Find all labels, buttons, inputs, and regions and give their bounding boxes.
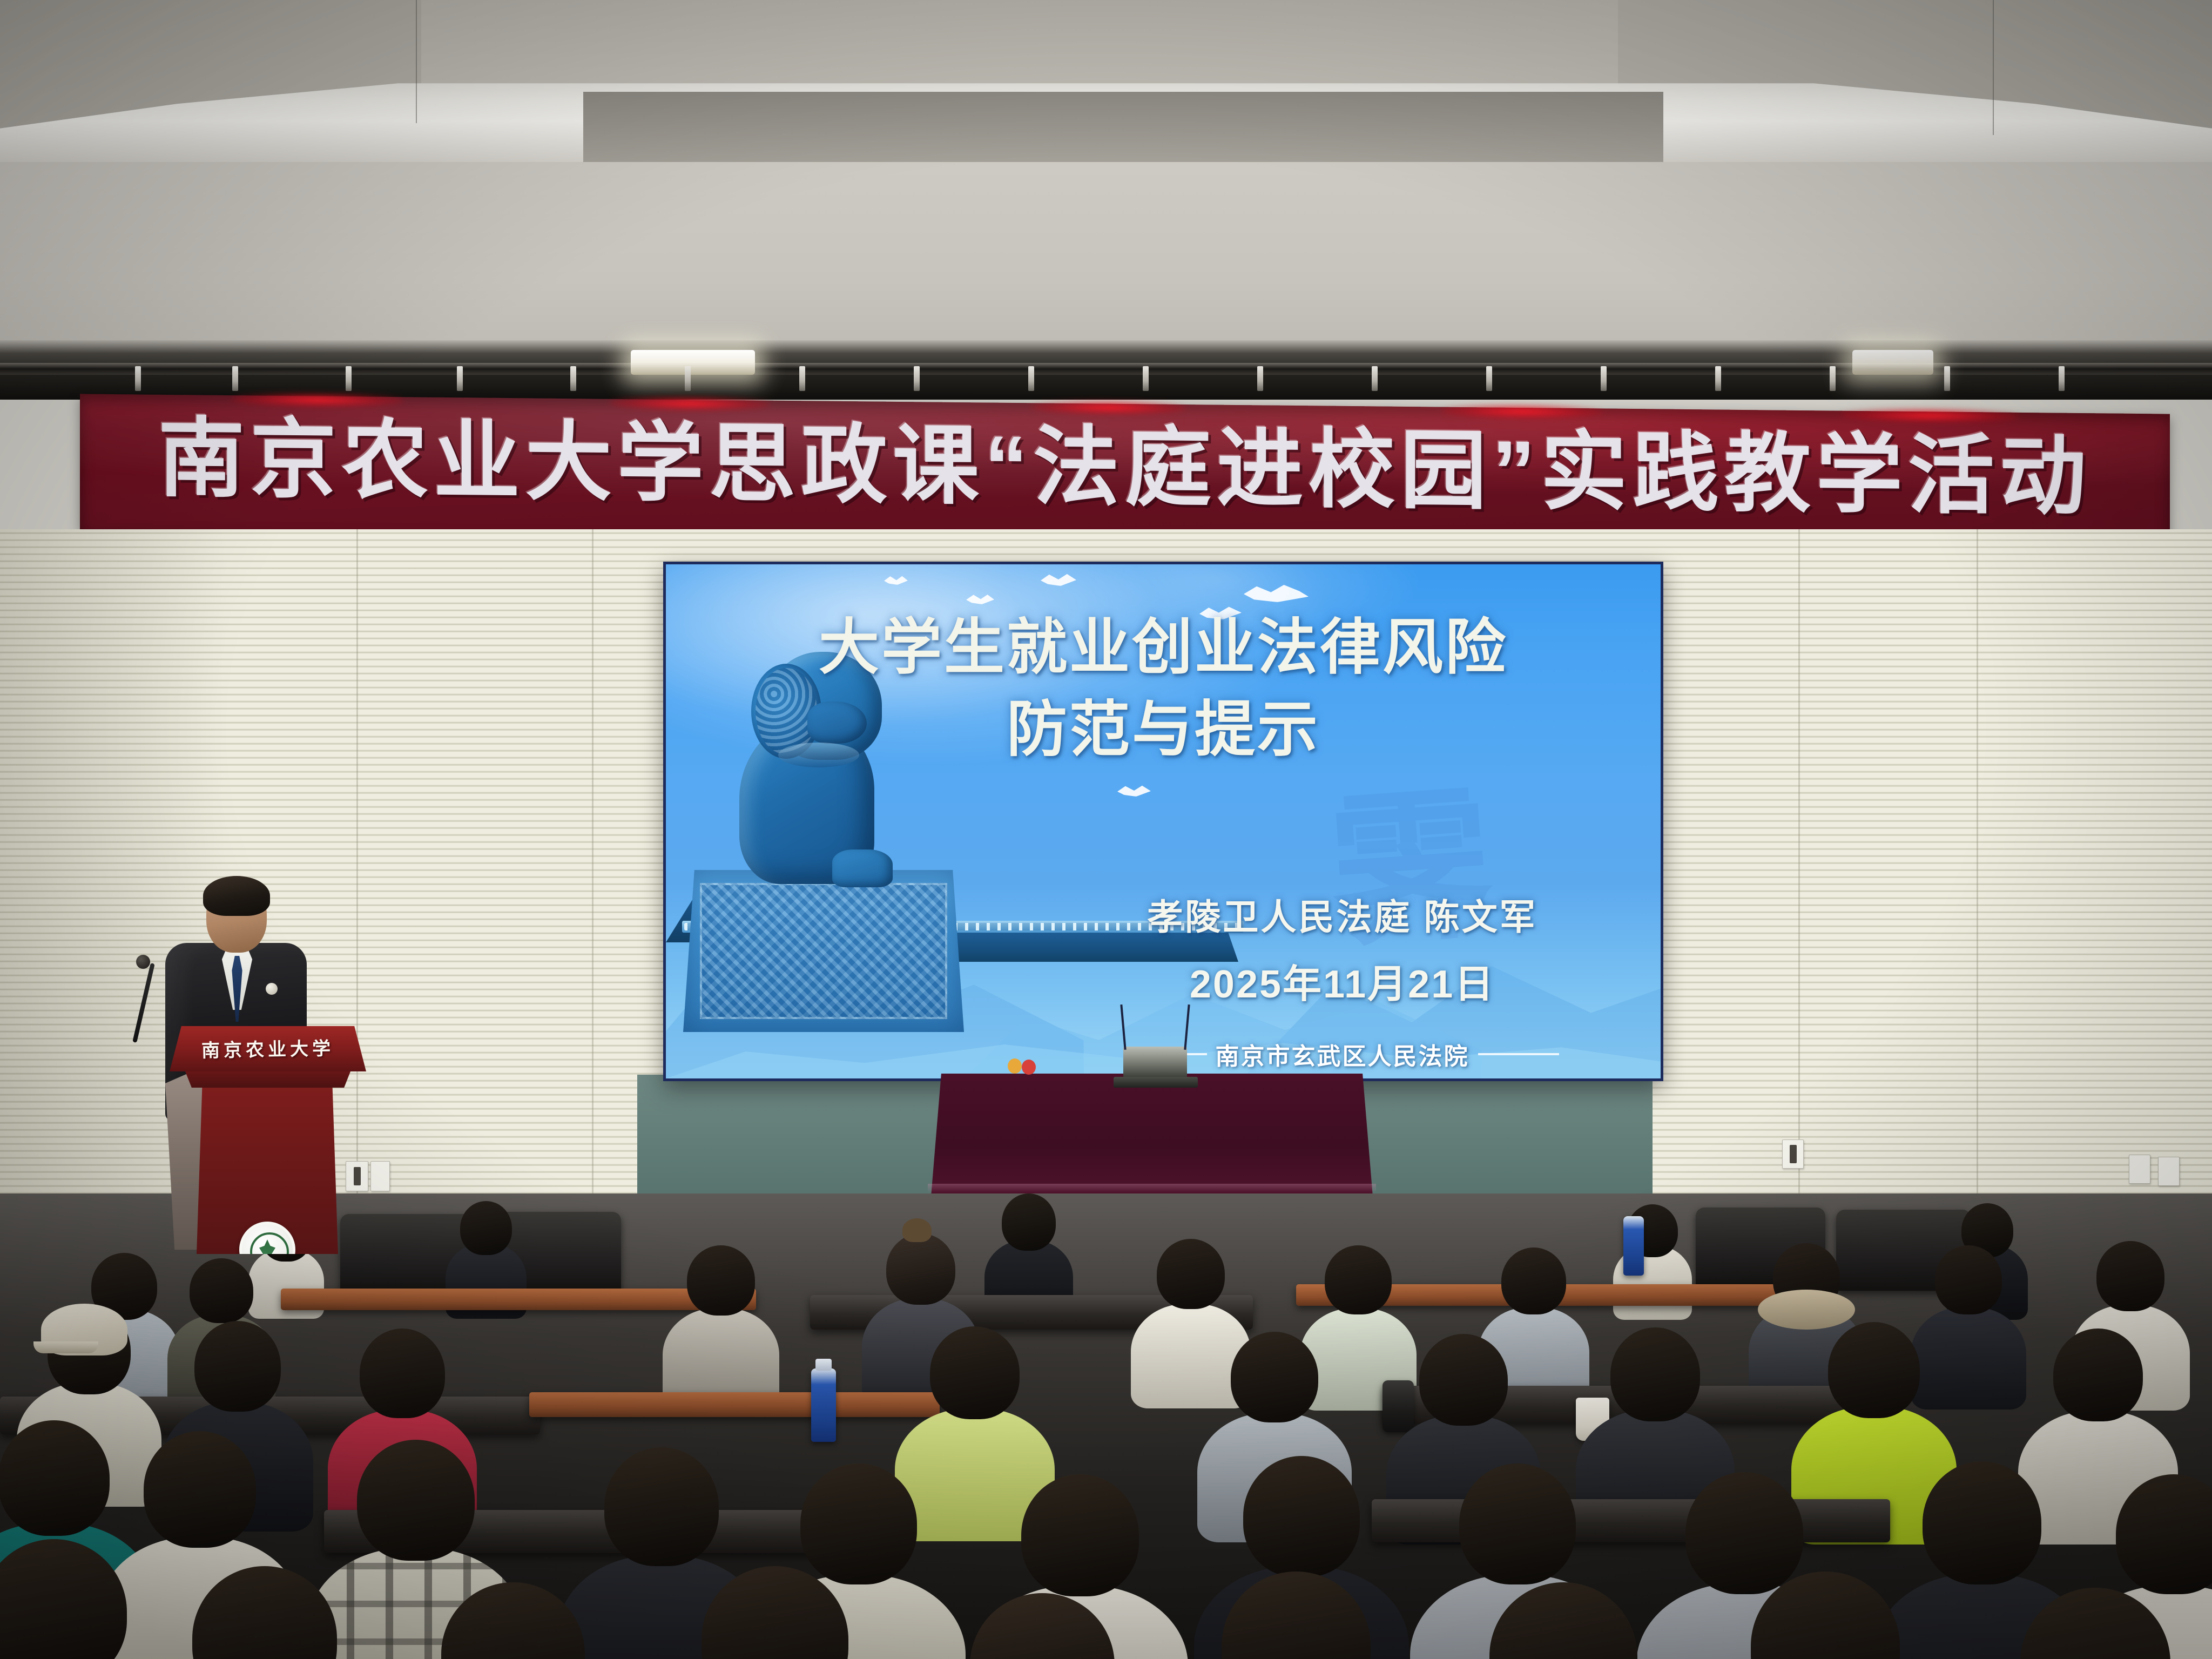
cap-brim [33, 1341, 98, 1353]
lion-paw [832, 849, 893, 887]
person-head [1610, 1327, 1700, 1421]
water-bottle[interactable] [1623, 1216, 1644, 1276]
audience-area [0, 1193, 2212, 1659]
water-bottle[interactable] [811, 1368, 836, 1442]
wall-switch-plate[interactable] [2129, 1155, 2150, 1184]
laptop-base[interactable] [1114, 1077, 1198, 1088]
person-head [2020, 1588, 2170, 1659]
slide-surface: 霁 [666, 564, 1661, 1078]
slide-presenter: 孝陵卫人民法庭 陈文军 [1084, 888, 1601, 940]
person-head [192, 1566, 337, 1659]
person-head [930, 1326, 1020, 1419]
stage-lamp [1852, 350, 1933, 375]
audience-member [410, 1582, 616, 1659]
ceiling-hanger-wire [416, 0, 417, 123]
person-head [0, 1420, 110, 1536]
audience-member [1458, 1582, 1669, 1659]
person-head [604, 1447, 719, 1566]
table-items [1008, 1058, 1022, 1074]
banner-clip [1830, 366, 1836, 391]
banner-clip [457, 366, 463, 391]
banner-clip [570, 366, 576, 391]
desk-row [529, 1392, 940, 1417]
person-head [1002, 1193, 1056, 1251]
person-head [2116, 1474, 2212, 1594]
banner-title: 南京农业大学思政课“法庭进校园”实践教学活动 [80, 414, 2170, 521]
podium-university-name: 南京农业大学 [170, 1033, 367, 1063]
podium-front-panel: 南京农业大学 [170, 1026, 366, 1071]
audience-member [1987, 1588, 2203, 1659]
person-head [1419, 1334, 1508, 1426]
socket-face [1790, 1145, 1797, 1163]
table-items [1022, 1060, 1036, 1075]
slide-date: 2025年11月21日 [1084, 952, 1601, 1009]
wall-switch-plate[interactable] [2158, 1157, 2180, 1186]
person-head [441, 1582, 585, 1659]
banner-clip [1601, 366, 1607, 391]
ceiling-hanger-wire [1993, 0, 1994, 135]
person-head [144, 1431, 256, 1548]
podium-body [197, 1085, 338, 1254]
laptop-on-table[interactable] [1123, 1047, 1187, 1078]
wall-panel-seam [592, 529, 594, 1253]
banner-clip [914, 366, 920, 391]
person-head [190, 1258, 253, 1323]
lecture-hall-scene: // truss clips are decorative structure,… [0, 0, 2212, 1659]
stage-lamp [631, 350, 755, 375]
person-head [1325, 1245, 1392, 1314]
banner-clip [685, 366, 691, 391]
ceiling-recess [583, 92, 1663, 173]
banner-clip [2059, 366, 2065, 391]
hair-bun [902, 1218, 932, 1242]
ceiling-lower-plane [0, 162, 2212, 356]
audience-member [0, 1539, 157, 1659]
person-head [0, 1539, 127, 1659]
slide-footer-block: 孝陵卫人民法庭 陈文军 2025年11月21日 南京市玄武区人民法院 [1084, 888, 1601, 1071]
event-banner: 南京农业大学思政课“法庭进校园”实践教学活动 [80, 394, 2170, 550]
person-head [357, 1440, 475, 1561]
slide-title-line-1: 大学生就业创业法律风险 [666, 606, 1661, 689]
slide-organization: 南京市玄武区人民法院 [1216, 1037, 1469, 1071]
banner-clip [799, 366, 805, 391]
speaker-hair [203, 876, 270, 916]
person-head [360, 1328, 445, 1418]
banner-clip [1715, 366, 1721, 391]
person-head [886, 1233, 955, 1305]
person-head [1489, 1582, 1637, 1659]
audience-member [994, 1193, 1064, 1307]
person-head [970, 1593, 1115, 1659]
audience-member [940, 1593, 1145, 1659]
person-head [2053, 1328, 2143, 1421]
plinth-carving [700, 883, 947, 1019]
podium: 南京农业大学 [174, 1026, 362, 1253]
person-head [1021, 1474, 1139, 1596]
projection-screen: 霁 [663, 562, 1663, 1081]
banner-clip [1257, 366, 1263, 391]
person-head [1231, 1332, 1318, 1422]
banner-clip [135, 366, 141, 391]
person-head [702, 1566, 848, 1659]
audience-member [162, 1566, 367, 1659]
slide-title: 大学生就业创业法律风险 防范与提示 [666, 606, 1661, 771]
person-head [1923, 1461, 2041, 1584]
person-head [194, 1321, 281, 1412]
person-head [1828, 1322, 1920, 1418]
banner-clip [1486, 366, 1492, 391]
audience-member [675, 1245, 767, 1391]
wall-panel-seam [1977, 529, 1978, 1253]
person-head [687, 1245, 755, 1316]
slide-title-line-2: 防范与提示 [666, 689, 1661, 771]
bottle-cap [815, 1359, 832, 1371]
person-head [1935, 1245, 2002, 1314]
banner-clip [232, 366, 238, 391]
banner-clip [1372, 366, 1378, 391]
podium-microphone-head [136, 955, 150, 969]
rule-right [1478, 1053, 1559, 1055]
banner-clip [1028, 366, 1034, 391]
person-head [1459, 1464, 1576, 1584]
person-head [460, 1201, 512, 1255]
podium-lip [177, 1069, 359, 1088]
wall-socket-plate[interactable] [1782, 1139, 1804, 1169]
banner-clip [1944, 366, 1950, 391]
person-head [1243, 1456, 1360, 1577]
person-head [1157, 1239, 1225, 1309]
audience-member [670, 1566, 880, 1659]
banner-clip [1143, 366, 1149, 391]
wall-switch-plate[interactable] [370, 1161, 390, 1191]
person-head [2096, 1241, 2164, 1311]
person-head [1751, 1572, 1900, 1659]
speaker-lapel-pin [266, 983, 278, 995]
stage-table-skirt-fold [928, 1184, 1376, 1192]
person-head [1222, 1572, 1371, 1659]
person-head [1501, 1247, 1566, 1314]
audience-member [1188, 1572, 1404, 1659]
audience-member [1717, 1572, 1933, 1659]
stone-plinth [683, 870, 964, 1032]
banner-clip [346, 366, 352, 391]
